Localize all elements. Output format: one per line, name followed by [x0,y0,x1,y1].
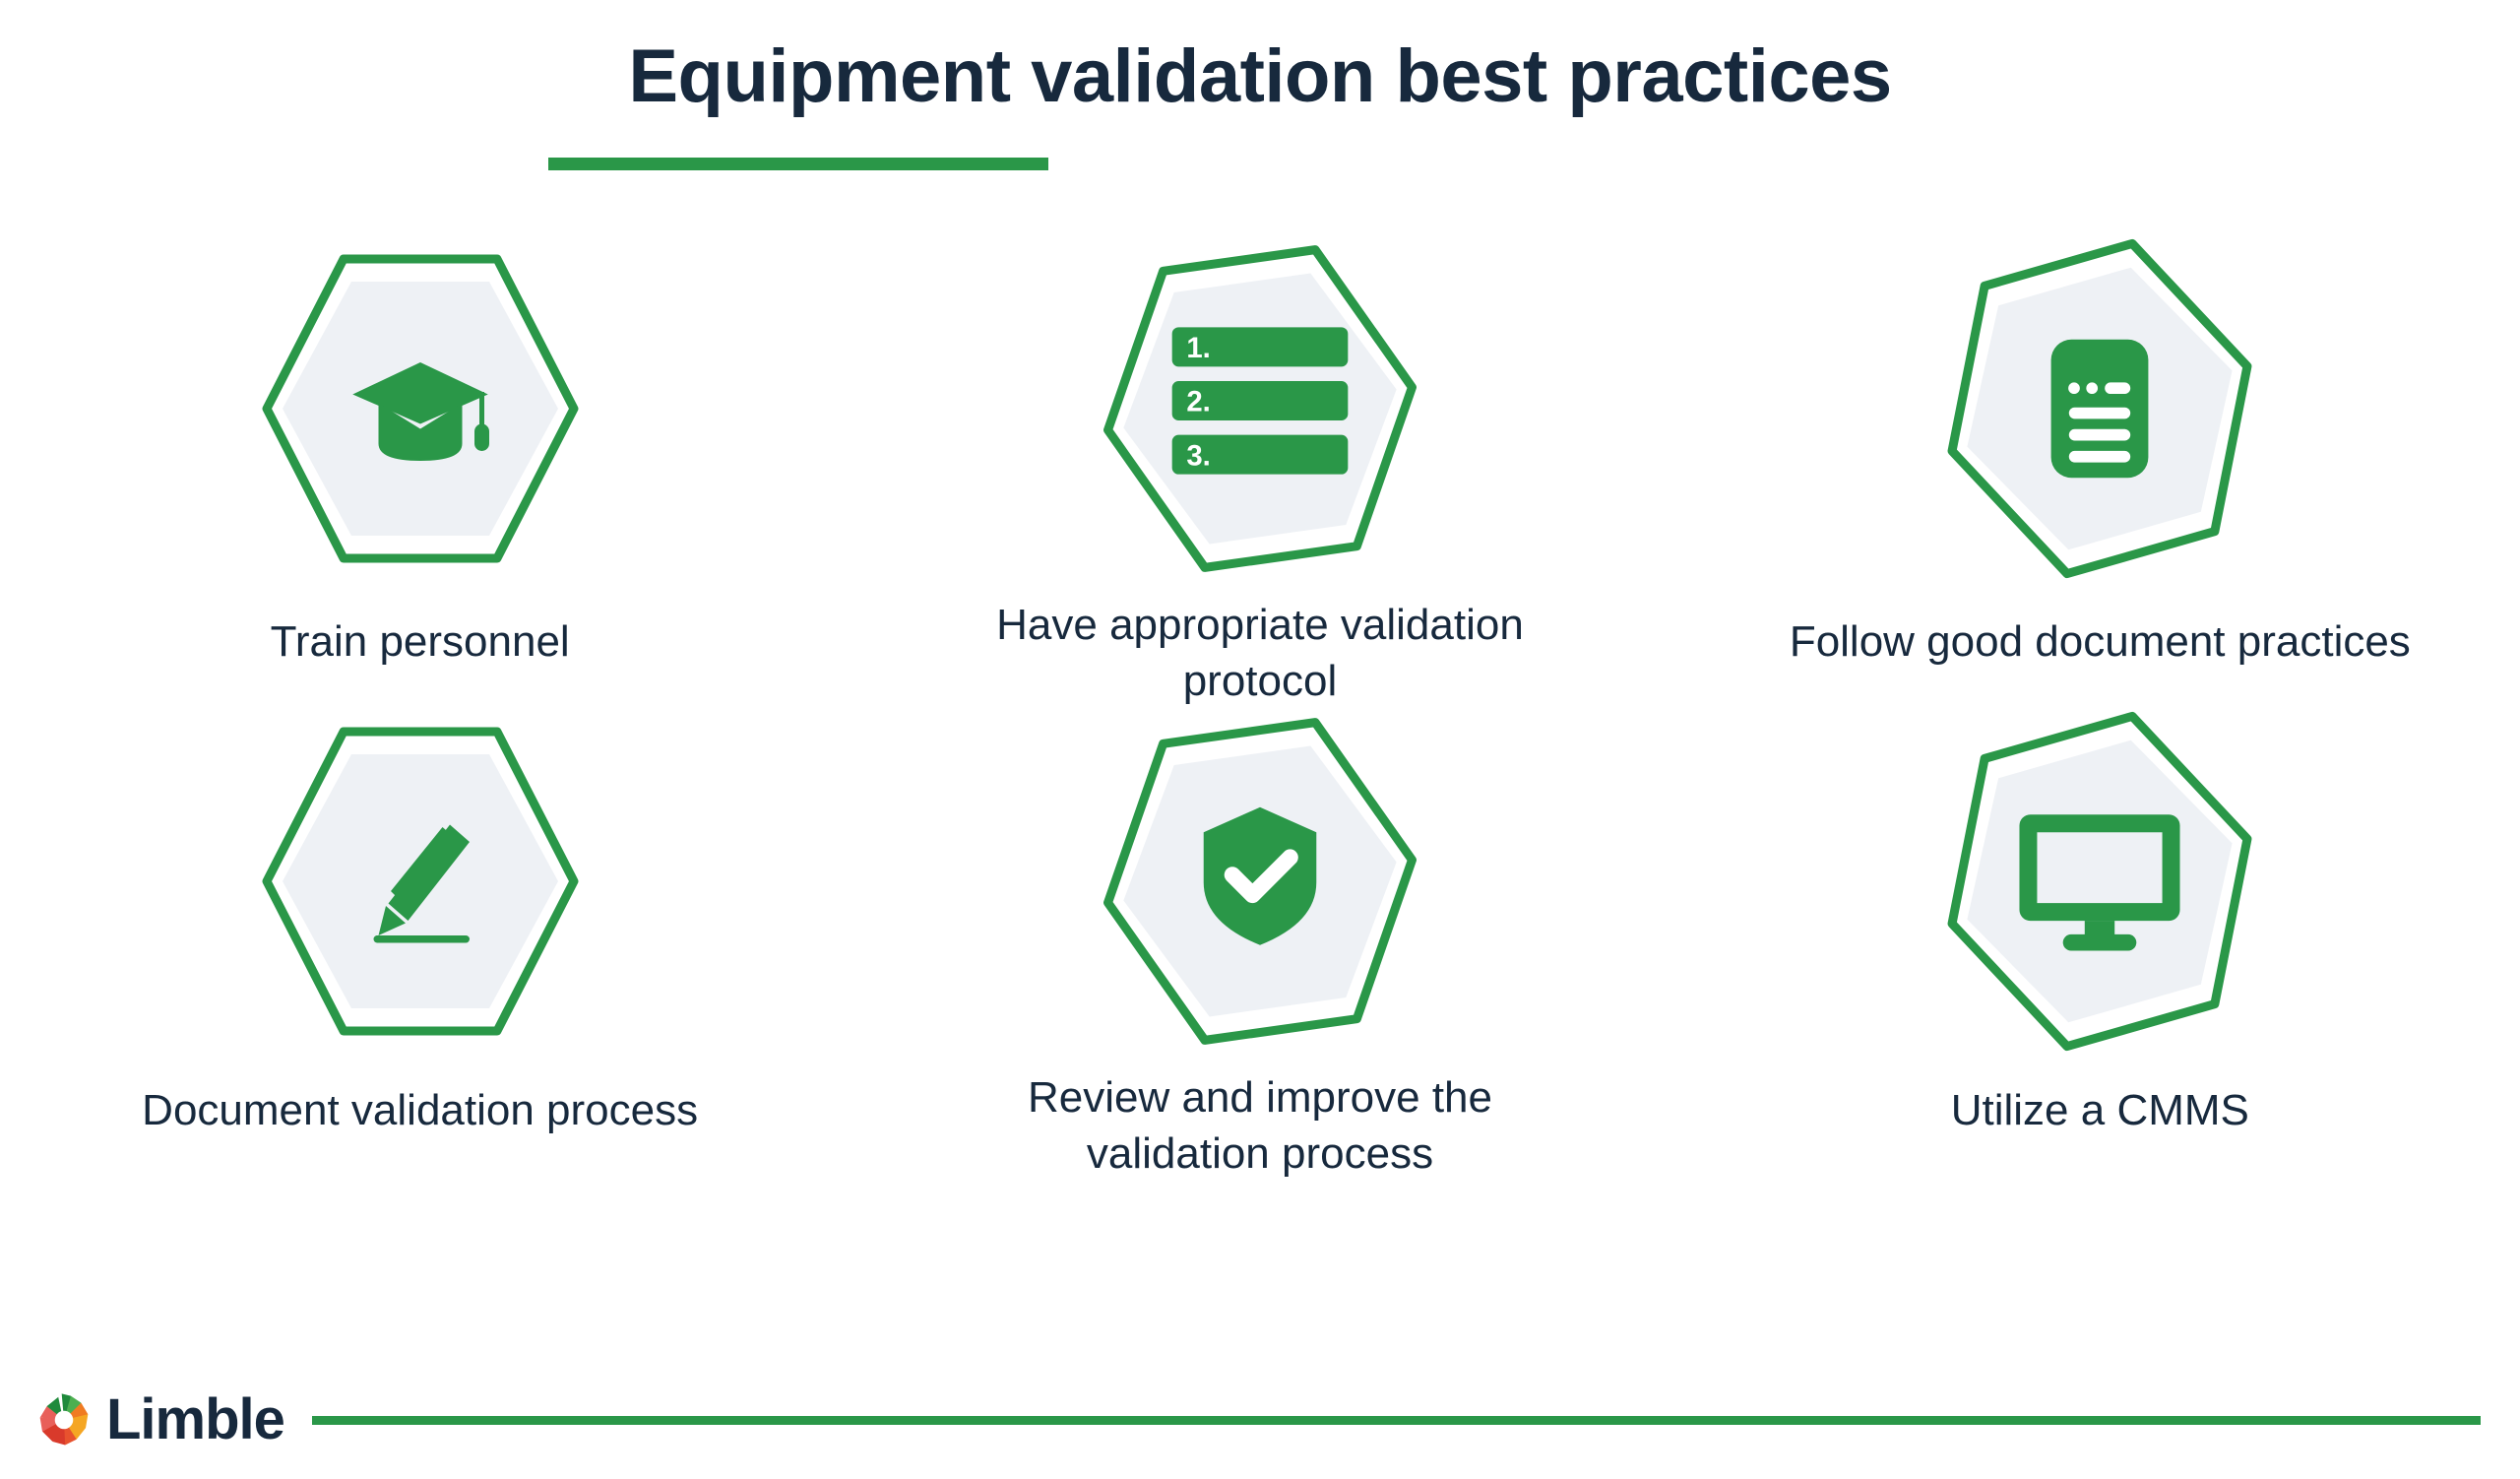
svg-text:1.: 1. [1186,332,1210,364]
practice-card-document-practices[interactable]: Follow good document practices [1726,236,2474,709]
numbered-list-icon: 1. 2. 3. [1162,322,1358,480]
brand-name: Limble [106,1391,284,1448]
practice-card-validation-protocol[interactable]: 1. 2. 3. Have appropriate validation pro… [886,236,1634,709]
practice-card-utilize-cmms[interactable]: Utilize a CMMS [1726,709,2474,1182]
hex-badge [238,236,602,581]
svg-text:3.: 3. [1186,439,1210,472]
hex-badge [1918,236,2282,581]
monitor-icon [2011,807,2188,955]
card-caption: Review and improve the validation proces… [945,1070,1575,1182]
footer: Limble [0,1361,2520,1479]
practice-card-train-personnel[interactable]: Train personnel [46,236,794,709]
graduation-cap-icon [332,320,509,497]
card-caption: Utilize a CMMS [1951,1083,2249,1138]
title-accent-underline [548,158,1048,170]
document-icon [2011,320,2188,497]
practice-card-review-improve[interactable]: Review and improve the validation proces… [886,709,1634,1182]
page-title: Equipment validation best practices [0,39,2520,114]
page-header: Equipment validation best practices [0,39,2520,114]
practice-card-document-process[interactable]: Document validation process [46,709,794,1182]
card-caption: Follow good document practices [1790,614,2411,670]
limble-gear-logo-icon [35,1391,93,1448]
hex-badge [1078,709,1442,1041]
hex-badge [1918,709,2282,1054]
shield-check-icon [1171,787,1349,964]
card-caption: Document validation process [142,1083,698,1138]
hex-badge: 1. 2. 3. [1078,236,1442,564]
hex-badge [238,709,602,1054]
brand-logo[interactable]: Limble [35,1391,284,1448]
card-caption: Have appropriate validation protocol [945,598,1575,709]
best-practices-grid: Train personnel 1. 2. 3. Ha [0,236,2520,1182]
footer-divider-rule [312,1416,2481,1425]
pen-signature-icon [332,793,509,970]
card-caption: Train personnel [271,614,570,670]
svg-text:2.: 2. [1186,385,1210,418]
